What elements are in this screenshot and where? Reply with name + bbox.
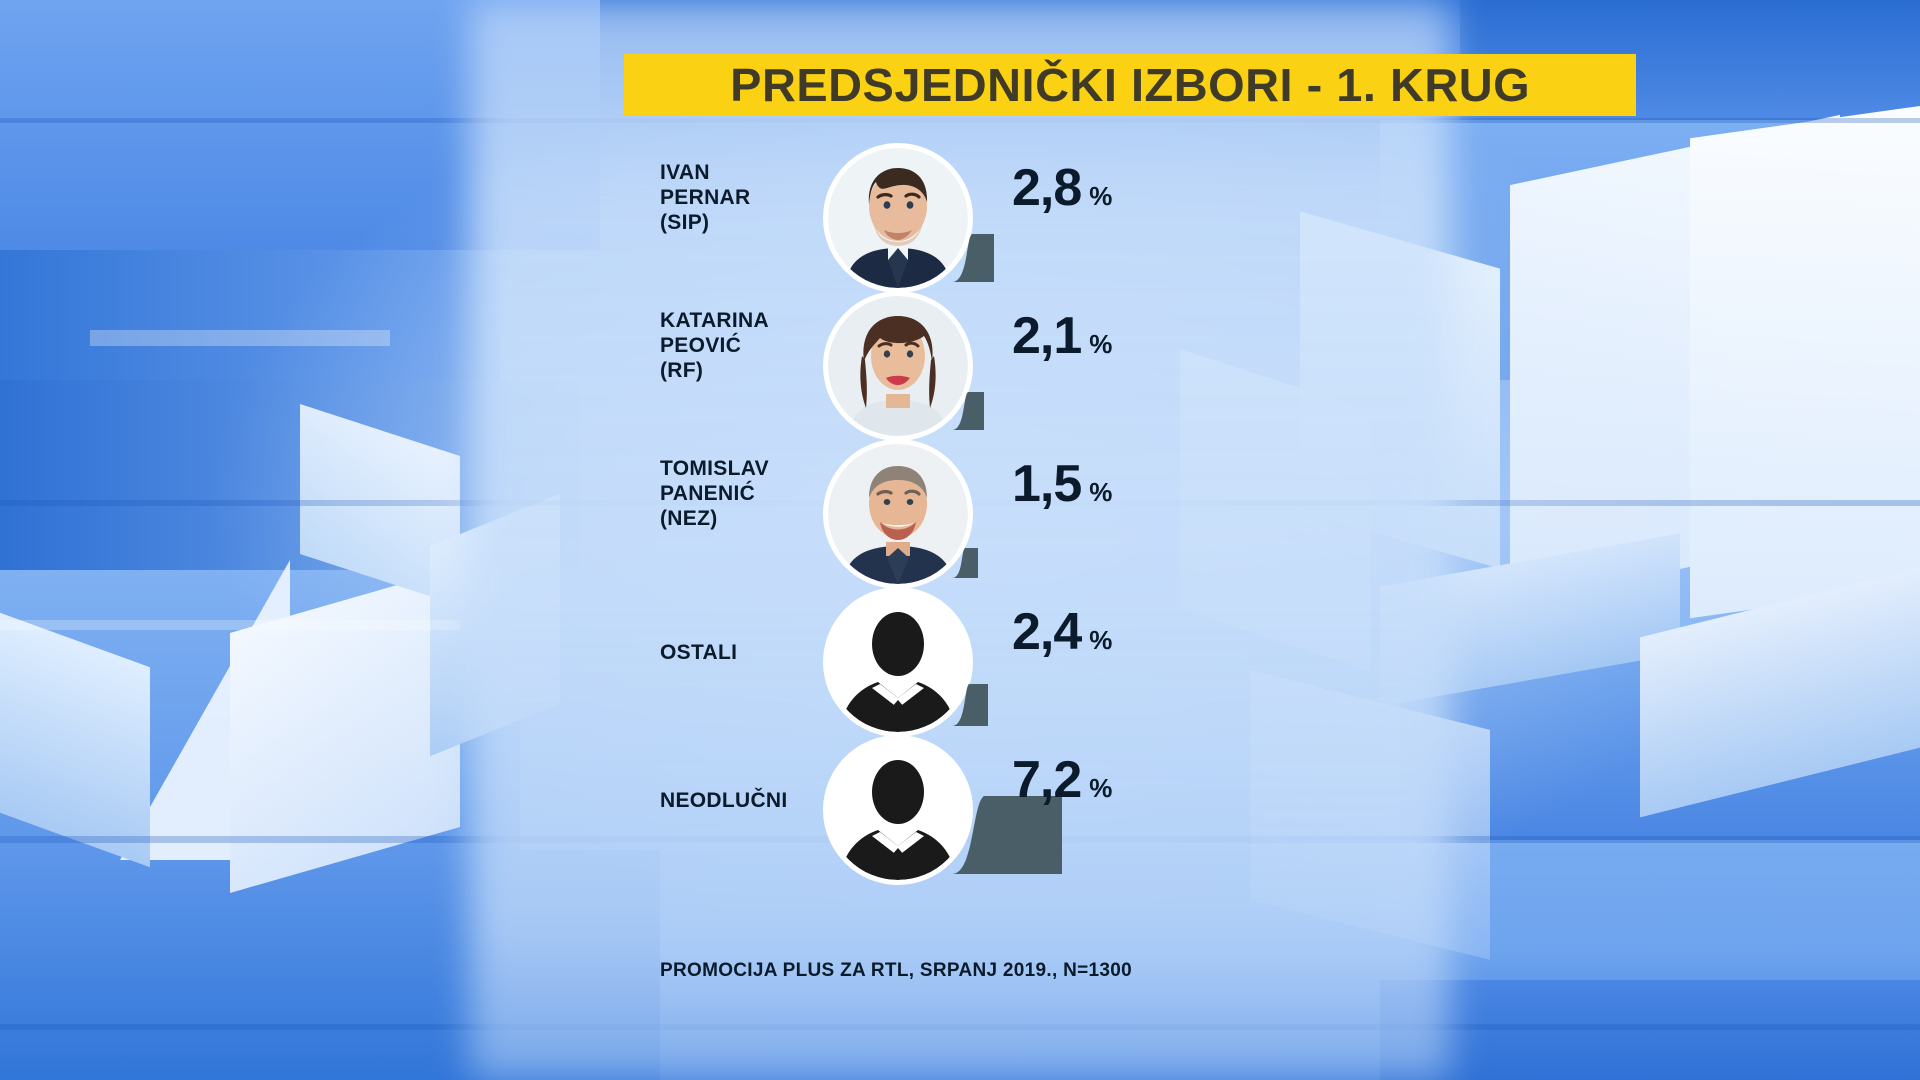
percent-symbol: % <box>1089 181 1112 211</box>
percent-symbol: % <box>1089 773 1112 803</box>
source-note: PROMOCIJA PLUS ZA RTL, SRPANJ 2019., N=1… <box>660 960 1132 982</box>
avatar <box>828 740 968 880</box>
broadcast-graphic: PREDSJEDNIČKI IZBORI - 1. KRUG IVAN PERN… <box>0 0 1920 1080</box>
candidate-name-line1: OSTALI <box>660 640 850 665</box>
percentage-value: 2,8 <box>1012 159 1081 217</box>
percent-symbol: % <box>1089 477 1112 507</box>
candidate-name: IVAN PERNAR (SIP) <box>660 160 850 235</box>
title-banner: PREDSJEDNIČKI IZBORI - 1. KRUG <box>624 54 1636 116</box>
candidate-name-line1: IVAN <box>660 160 850 185</box>
percentage-value: 2,1 <box>1012 307 1081 365</box>
result-percentage: 2,1% <box>1012 306 1112 366</box>
bar-value <box>952 392 984 430</box>
avatar <box>828 444 968 584</box>
candidate-party: (NEZ) <box>660 506 850 531</box>
silhouette-person-icon <box>828 592 968 732</box>
candidate-name: TOMISLAV PANENIĆ (NEZ) <box>660 456 850 531</box>
silhouette-person-icon <box>828 740 968 880</box>
candidate-name-line2: PANENIĆ <box>660 481 850 506</box>
candidate-name-line2: PEOVIĆ <box>660 333 850 358</box>
candidate-party: (SIP) <box>660 210 850 235</box>
result-row: OSTALI <box>0 584 1920 732</box>
bar-value <box>952 234 994 282</box>
result-row: IVAN PERNAR (SIP) <box>0 140 1920 288</box>
percent-symbol: % <box>1089 625 1112 655</box>
avatar <box>828 296 968 436</box>
portrait-photo-icon <box>828 296 968 436</box>
result-percentage: 7,2% <box>1012 750 1112 810</box>
result-row: NEODLUČNI <box>0 732 1920 880</box>
percent-symbol: % <box>1089 329 1112 359</box>
page-title: PREDSJEDNIČKI IZBORI - 1. KRUG <box>730 58 1530 112</box>
candidate-name: OSTALI <box>660 640 850 665</box>
bar-value <box>952 548 978 578</box>
portrait-photo-icon <box>828 148 968 288</box>
result-percentage: 1,5% <box>1012 454 1112 514</box>
percentage-value: 1,5 <box>1012 455 1081 513</box>
candidate-name-line1: TOMISLAV <box>660 456 850 481</box>
percentage-value: 7,2 <box>1012 751 1081 809</box>
percentage-value: 2,4 <box>1012 603 1081 661</box>
avatar <box>828 148 968 288</box>
result-row: KATARINA PEOVIĆ (RF) <box>0 288 1920 436</box>
portrait-photo-icon <box>828 444 968 584</box>
candidate-name: KATARINA PEOVIĆ (RF) <box>660 308 850 383</box>
candidate-name-line1: KATARINA <box>660 308 850 333</box>
result-percentage: 2,4% <box>1012 602 1112 662</box>
candidate-party: (RF) <box>660 358 850 383</box>
result-percentage: 2,8% <box>1012 158 1112 218</box>
candidate-name-line1: NEODLUČNI <box>660 788 850 813</box>
candidate-name-line2: PERNAR <box>660 185 850 210</box>
candidate-name: NEODLUČNI <box>660 788 850 813</box>
bar-value <box>952 684 988 726</box>
results-list: IVAN PERNAR (SIP) <box>0 140 1920 880</box>
result-row: TOMISLAV PANENIĆ (NEZ) <box>0 436 1920 584</box>
avatar <box>828 592 968 732</box>
